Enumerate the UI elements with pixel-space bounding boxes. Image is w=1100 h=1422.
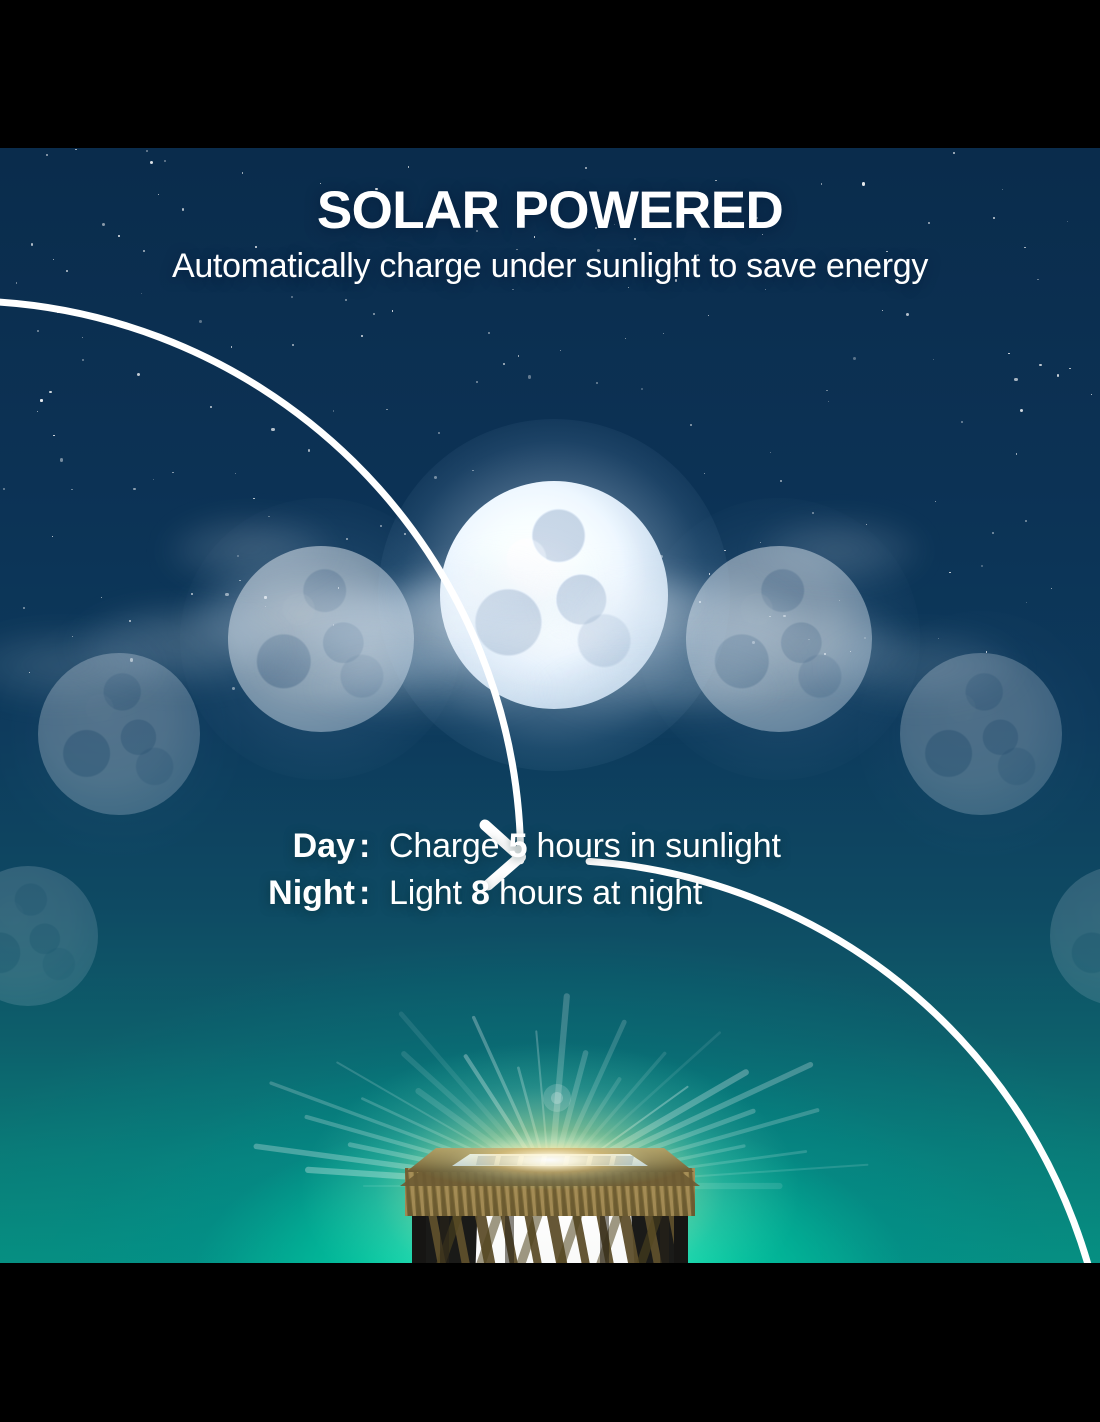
spec-night-value: 8: [471, 874, 490, 912]
scene-band: SOLAR POWERED Automatically charge under…: [0, 148, 1100, 1263]
page-title: SOLAR POWERED: [0, 180, 1100, 241]
spec-label-day: Day: [0, 827, 355, 866]
spec-day-suffix: hours in sunlight: [527, 827, 780, 865]
header: SOLAR POWERED Automatically charge under…: [0, 148, 1100, 286]
spec-list: Day : Charge 5 hours in sunlight Night :…: [0, 827, 1100, 921]
spec-night-prefix: Light: [389, 874, 471, 912]
spec-day-value: 5: [509, 827, 528, 865]
rattan-strand: [212, 1192, 258, 1263]
lens-flare-dot-icon: [551, 1092, 563, 1104]
spec-day-prefix: Charge: [389, 827, 509, 865]
rattan-strand: [188, 1192, 234, 1263]
letterbox-top: [0, 0, 1100, 148]
page-subtitle: Automatically charge under sunlight to s…: [0, 247, 1100, 286]
spec-colon-day: :: [355, 827, 389, 866]
rattan-strand: [260, 1192, 306, 1263]
promo-image: SOLAR POWERED Automatically charge under…: [0, 0, 1100, 1422]
spec-night-suffix: hours at night: [490, 874, 702, 912]
solar-rattan-lantern-icon: [0, 148, 1100, 1263]
spec-colon-night: :: [355, 874, 389, 913]
spec-text-day: Charge 5 hours in sunlight: [389, 827, 781, 866]
spec-label-night: Night: [0, 874, 355, 913]
panel-shine: [405, 1130, 695, 1190]
spec-text-night: Light 8 hours at night: [389, 874, 702, 913]
spec-row-night: Night : Light 8 hours at night: [0, 874, 1100, 913]
rattan-strand: [236, 1192, 282, 1263]
spec-row-day: Day : Charge 5 hours in sunlight: [0, 827, 1100, 866]
letterbox-bottom: [0, 1263, 1100, 1422]
